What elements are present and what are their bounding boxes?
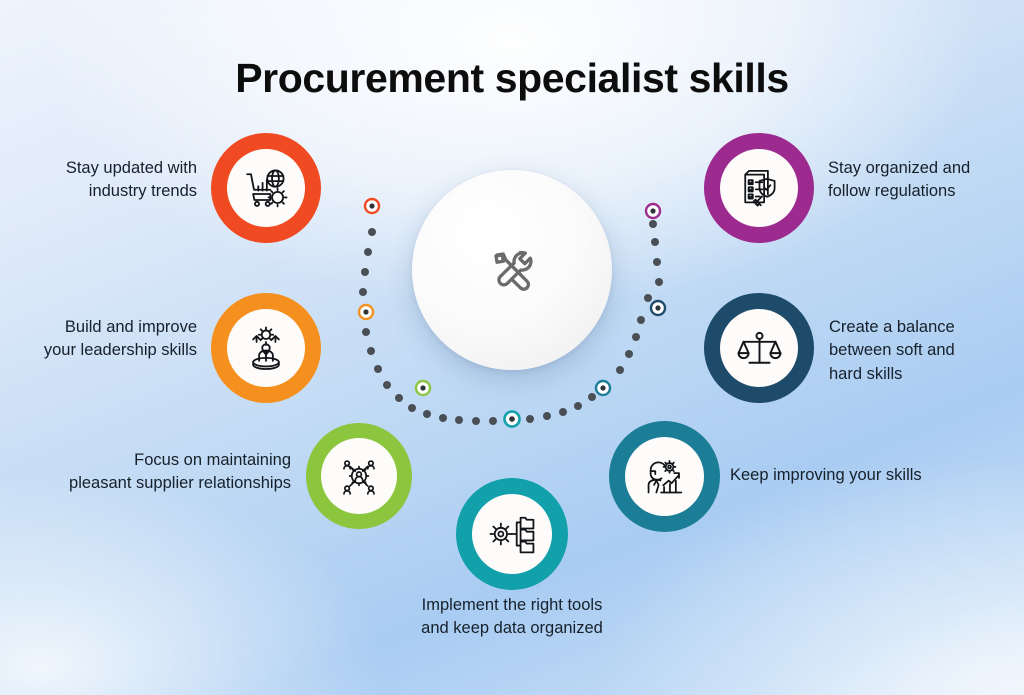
arc-marker-green (416, 381, 430, 395)
label-line: hard skills (829, 363, 1024, 386)
label-line: follow regulations (828, 180, 1024, 203)
node-create-balance-soft-hard-skills[interactable] (704, 293, 814, 403)
label-keep-improving-skills: Keep improving your skills (730, 464, 990, 487)
label-create-balance-soft-hard-skills: Create a balance between soft and hard s… (829, 316, 1024, 386)
label-line: Focus on maintaining (8, 449, 291, 472)
label-line: and keep data organized (362, 617, 662, 640)
supplier-network-people-icon (336, 453, 382, 499)
node-implement-right-tools[interactable] (456, 478, 568, 590)
arc-marker-orange (359, 305, 373, 319)
node-focus-supplier-relationships[interactable] (306, 423, 412, 529)
node-stay-organized-follow-regulations[interactable] (704, 133, 814, 243)
node-keep-improving-skills[interactable] (609, 421, 720, 532)
arc-marker-purple (646, 204, 660, 218)
label-line: Keep improving your skills (730, 464, 990, 487)
balance-scales-icon (736, 325, 783, 372)
center-hub (412, 170, 612, 370)
label-line: Build and improve (10, 316, 197, 339)
label-line: Implement the right tools (362, 594, 662, 617)
label-implement-right-tools: Implement the right tools and keep data … (362, 594, 662, 641)
person-gear-bar-chart-icon (641, 453, 688, 500)
checklist-shield-gavel-icon (736, 165, 783, 212)
node-stay-updated-industry-trends[interactable] (211, 133, 321, 243)
arc-marker-red (365, 199, 379, 213)
page-title: Procurement specialist skills (0, 55, 1024, 102)
label-line: Stay updated with (25, 157, 197, 180)
label-line: industry trends (25, 180, 197, 203)
arc-marker-navy (651, 301, 665, 315)
label-line: Create a balance (829, 316, 1024, 339)
leader-gear-growth-icon (242, 324, 290, 372)
label-stay-organized-follow-regulations: Stay organized and follow regulations (828, 157, 1024, 204)
node-build-improve-leadership-skills[interactable] (211, 293, 321, 403)
cart-globe-chart-icon (242, 164, 290, 212)
infographic-canvas: Procurement specialist skills (0, 0, 1024, 695)
arc-marker-teal (505, 412, 520, 427)
label-build-improve-leadership-skills: Build and improve your leadership skills (10, 316, 197, 363)
label-line: your leadership skills (10, 339, 197, 362)
arc-marker-blue (596, 381, 610, 395)
label-line: pleasant supplier relationships (8, 472, 291, 495)
label-focus-supplier-relationships: Focus on maintaining pleasant supplier r… (8, 449, 291, 496)
tools-wrench-screwdriver-icon (481, 239, 543, 301)
label-line: between soft and (829, 339, 1024, 362)
label-stay-updated-industry-trends: Stay updated with industry trends (25, 157, 197, 204)
label-line: Stay organized and (828, 157, 1024, 180)
gear-folder-structure-icon (488, 510, 536, 558)
